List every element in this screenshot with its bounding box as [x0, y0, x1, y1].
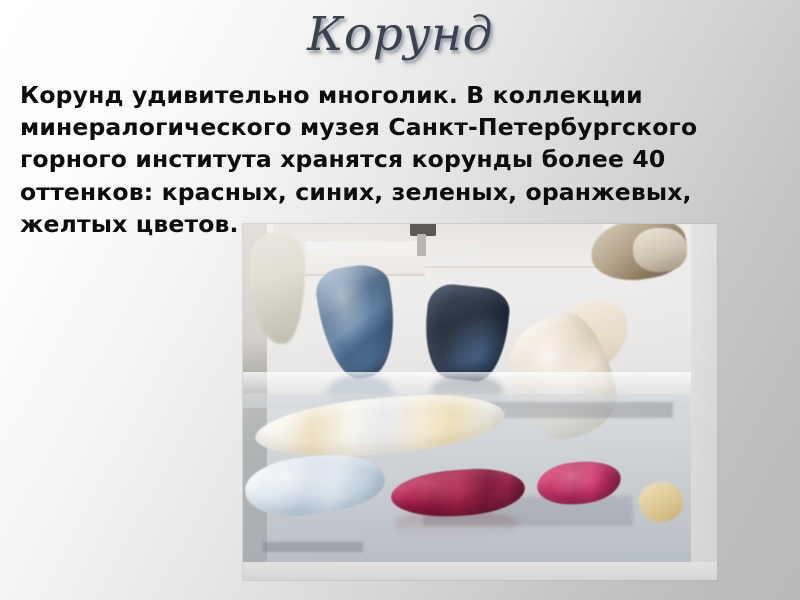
photo-image	[243, 224, 691, 562]
specimen-amber-crystal	[639, 482, 683, 522]
case-post-stem	[417, 234, 426, 256]
body-paragraph: Корунд удивительно многолик. В коллекции…	[20, 79, 710, 240]
page-title: Корунд	[307, 2, 493, 68]
specimen-blue-sapphire-crystal-left	[313, 261, 404, 383]
photo-border-bottom	[243, 562, 717, 580]
specimen-blue-sapphire-crystal-right	[420, 282, 511, 384]
corundum-photo	[243, 224, 717, 580]
photo-border-right	[691, 224, 717, 580]
specimen-brown-mineral-corner-b	[633, 228, 687, 272]
page-title-area: Корунд	[0, 2, 800, 72]
slide-corundum: Корунд Корунд удивительно многолик. В ко…	[0, 0, 800, 600]
case-label-strip-bottom	[263, 542, 363, 552]
